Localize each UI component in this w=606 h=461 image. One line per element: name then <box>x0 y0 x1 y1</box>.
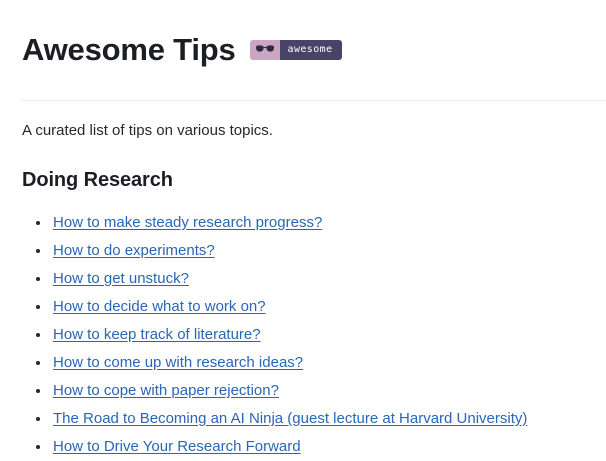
list-item: The Road to Becoming an AI Ninja (guest … <box>22 405 584 433</box>
list-item: How to cope with paper rejection? <box>22 377 584 405</box>
tip-list: How to make steady research progress? Ho… <box>22 209 584 461</box>
list-item: How to come up with research ideas? <box>22 349 584 377</box>
list-item: How to do experiments? <box>22 237 584 265</box>
sunglasses-icon <box>250 40 280 60</box>
page-subtitle: A curated list of tips on various topics… <box>22 120 584 143</box>
list-item: How to Drive Your Research Forward <box>22 433 584 461</box>
awesome-badge[interactable]: awesome <box>250 40 342 60</box>
tip-link[interactable]: How to do experiments? <box>53 242 215 259</box>
section-heading-doing-research: Doing Research <box>22 169 584 192</box>
awesome-badge-label: awesome <box>288 45 333 55</box>
list-item: How to make steady research progress? <box>22 209 584 237</box>
tip-link[interactable]: How to get unstuck? <box>53 270 189 287</box>
tip-link[interactable]: How to keep track of literature? <box>53 326 261 343</box>
title-row: Awesome Tips awesome <box>22 0 584 88</box>
tip-link[interactable]: How to decide what to work on? <box>53 298 266 315</box>
header-divider <box>22 100 606 101</box>
document-page: Awesome Tips awesome <box>0 0 606 88</box>
page-title: Awesome Tips <box>22 33 236 67</box>
tip-link[interactable]: The Road to Becoming an AI Ninja (guest … <box>53 410 527 427</box>
tip-link[interactable]: How to come up with research ideas? <box>53 354 303 371</box>
list-item: How to decide what to work on? <box>22 293 584 321</box>
tip-link[interactable]: How to Drive Your Research Forward <box>53 438 301 455</box>
document-body: A curated list of tips on various topics… <box>0 120 606 461</box>
awesome-badge-label-container: awesome <box>280 40 342 60</box>
list-item: How to get unstuck? <box>22 265 584 293</box>
header-divider-wrap <box>0 100 606 101</box>
tip-link[interactable]: How to cope with paper rejection? <box>53 382 279 399</box>
tip-link[interactable]: How to make steady research progress? <box>53 214 322 231</box>
list-item: How to keep track of literature? <box>22 321 584 349</box>
